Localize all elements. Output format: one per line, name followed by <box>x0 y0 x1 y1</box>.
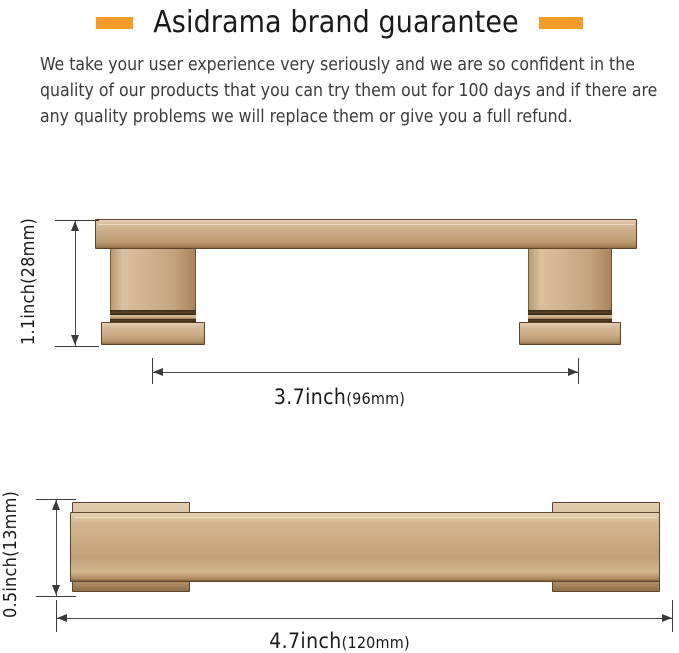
top-view-main-body <box>70 512 660 582</box>
decorative-dash-right-icon <box>539 17 583 29</box>
ctc-label-mm: (96mm) <box>346 389 405 408</box>
overall-dimension-line <box>56 618 673 619</box>
decorative-dash-left-icon <box>96 17 133 29</box>
overall-dimension-label: 4.7inch(120mm) <box>0 629 679 653</box>
projection-arrow-up-icon <box>71 221 79 231</box>
overall-extension-line-right <box>672 600 673 632</box>
overall-label-inch: 4.7inch <box>269 629 341 653</box>
side-view-right-post <box>528 248 612 312</box>
guarantee-paragraph: We take your user experience very seriou… <box>40 52 676 130</box>
side-view-grip-bar-highlight <box>98 224 634 225</box>
overall-arrow-right-icon <box>662 614 672 622</box>
projection-dimension-label: 1.1inch(28mm) <box>18 218 39 345</box>
ctc-arrow-left-icon <box>153 368 163 376</box>
ctc-dimension-line <box>152 372 579 373</box>
thickness-extension-line-bottom <box>36 596 76 597</box>
thickness-arrow-up-icon <box>52 500 60 510</box>
side-view-right-base-plate <box>519 322 621 345</box>
ctc-dimension-label: 3.7inch(96mm) <box>0 385 679 409</box>
overall-arrow-left-icon <box>57 614 67 622</box>
product-dimension-diagram: 1.1inch(28mm) 3.7inch(96mm) 0.5 <box>0 180 679 646</box>
projection-extension-line-bottom <box>55 346 99 347</box>
thickness-arrow-down-icon <box>52 585 60 595</box>
ctc-label-inch: 3.7inch <box>274 385 346 409</box>
ctc-extension-line-right <box>578 358 579 384</box>
projection-arrow-down-icon <box>71 335 79 345</box>
side-view-left-base-plate <box>101 322 205 345</box>
top-view-body-highlight <box>74 517 656 518</box>
side-view-left-post <box>110 248 196 312</box>
page-title: Asidrama brand guarantee <box>153 8 519 38</box>
thickness-dimension-label: 0.5inch(13mm) <box>0 491 21 618</box>
brand-header: Asidrama brand guarantee <box>0 0 679 46</box>
ctc-arrow-right-icon <box>568 368 578 376</box>
thickness-dimension-line <box>56 499 57 596</box>
overall-label-mm: (120mm) <box>342 633 410 652</box>
projection-dimension-line <box>75 220 76 346</box>
